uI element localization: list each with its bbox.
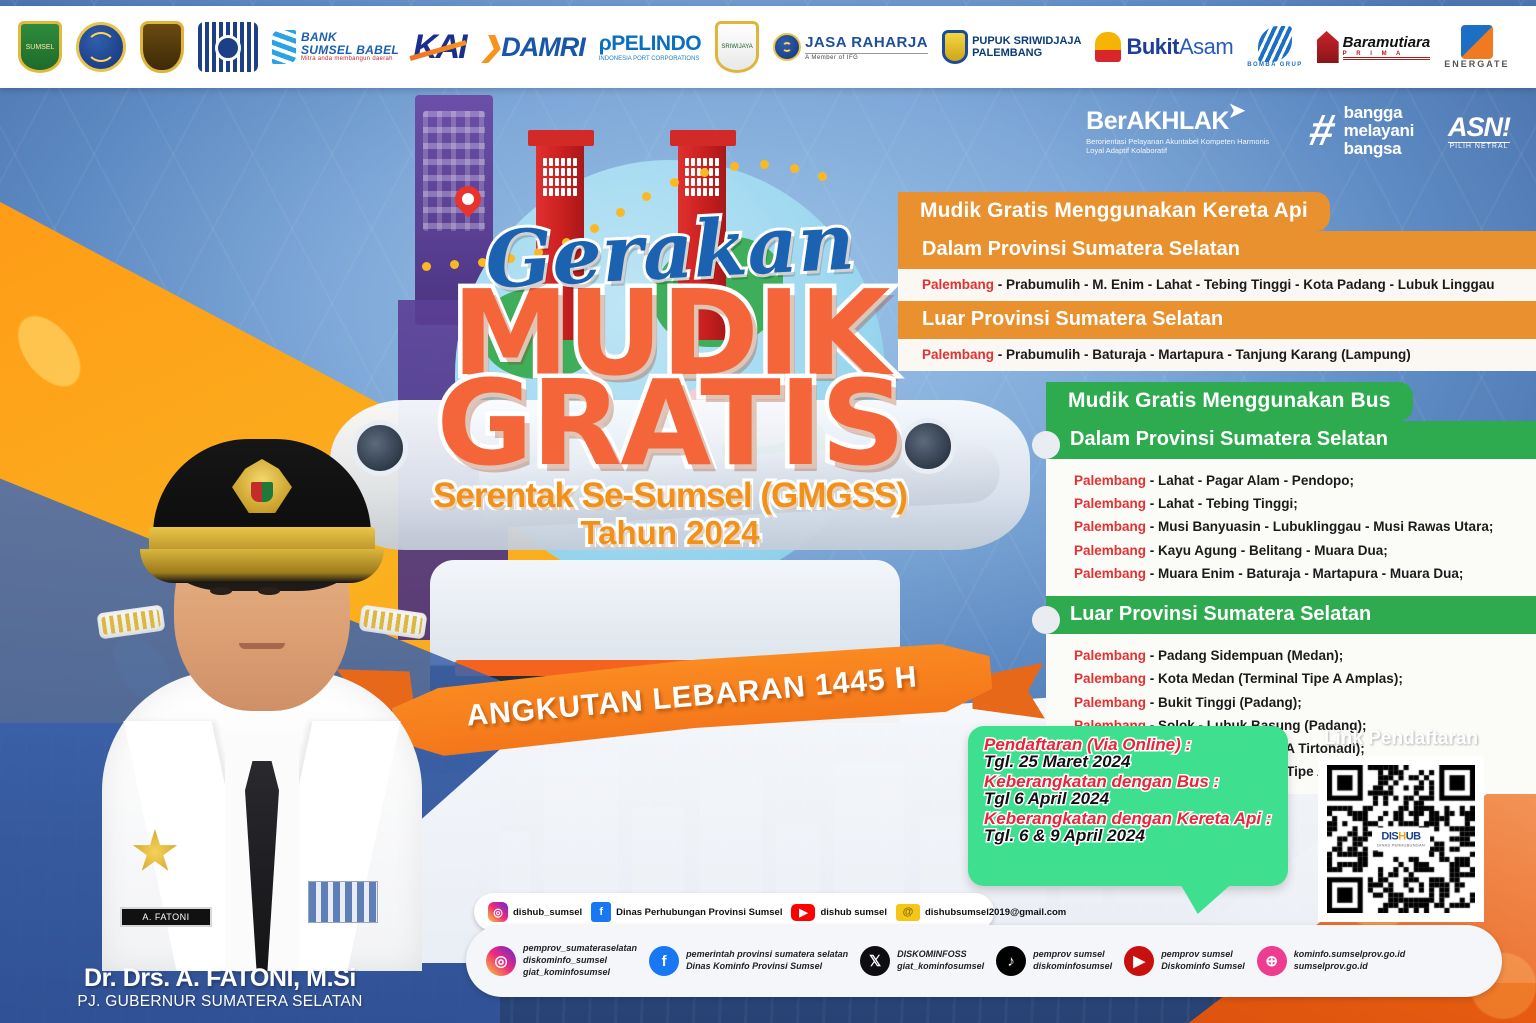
footer-item-website[interactable]: ⊕ kominfo.sumselprov.go.id sumselprov.go…: [1257, 946, 1406, 976]
pelindo-tagline: INDONESIA PORT CORPORATIONS: [599, 56, 701, 62]
bus-route-item: Palembang - Musi Banyuasin - Lubuklingga…: [1074, 515, 1536, 538]
bus-section-dalam-header: Dalam Provinsi Sumatera Selatan: [1046, 421, 1536, 459]
kominfo-social-footer: ◎ pemprov_sumateraselatan diskominfo_sum…: [466, 925, 1502, 997]
asn-netral-logo: ASN! PILIH NETRAL: [1448, 112, 1510, 150]
schedule-line-pendaftaran-date: Tgl. 25 Maret 2024: [984, 753, 1274, 770]
bus-section-luar-header: Luar Provinsi Sumatera Selatan: [1046, 596, 1536, 634]
uniform-nametag: A. FATONI: [120, 907, 212, 927]
jasa-raharja-tagline: A Member of IFG: [805, 53, 928, 61]
footer-youtube-handles: pemprov sumsel Diskominfo Sumsel: [1161, 949, 1245, 973]
footer-tiktok-handles: pemprov sumsel diskominfosumsel: [1033, 949, 1112, 973]
footer-item-facebook[interactable]: f pemerintah provinsi sumatera selatan D…: [649, 946, 848, 976]
bus-route-item: Palembang - Muara Enim - Baturaja - Mart…: [1074, 562, 1536, 585]
x-twitter-icon: 𝕏: [860, 946, 890, 976]
titan-logo: TITAN: [1524, 16, 1536, 78]
dishub-wing-logo-icon: [198, 16, 258, 78]
bangga-melayani-bangsa-logo: # bangga melayani bangsa: [1310, 104, 1414, 158]
damri-logo: ❯DAMRI: [480, 16, 585, 78]
kereta-route-dalam: Palembang - Prabumulih - M. Enim - Lahat…: [898, 269, 1536, 301]
schedule-line-kereta-date: Tgl. 6 & 9 April 2024: [984, 827, 1274, 844]
website-icon: ⊕: [1257, 946, 1287, 976]
partner-logo-bar: SUMSEL BANKSUMSEL BABEL Mitra anda memba…: [0, 6, 1536, 88]
hash-icon: #: [1306, 113, 1338, 148]
governor-eye-right: [258, 587, 280, 595]
footer-facebook-handles: pemerintah provinsi sumatera selatan Din…: [686, 949, 848, 973]
footer-item-youtube[interactable]: ▶ pemprov sumsel Diskominfo Sumsel: [1124, 946, 1245, 976]
pemprov-sumsel-emblem-icon: SUMSEL: [18, 16, 62, 78]
kemenhub-logo-icon: [76, 16, 126, 78]
bus-route-item: Palembang - Kayu Agung - Belitang - Muar…: [1074, 539, 1536, 562]
schedule-line-bus: Keberangkatan dengan Bus :: [984, 773, 1274, 790]
bukit-asam-logo: BukitAsam: [1095, 16, 1233, 78]
schedule-line-pendaftaran: Pendaftaran (Via Online) :: [984, 736, 1274, 753]
bus-routes-dalam: Palembang - Lahat - Pagar Alam - Pendopo…: [1046, 459, 1536, 596]
footer-website-urls: kominfo.sumselprov.go.id sumselprov.go.i…: [1294, 949, 1406, 973]
title-subtitle-gmgss: Serentak Se-Sumsel (GMGSS): [360, 476, 980, 516]
qr-registration-block: Link Pendaftaran DISHUB DINAS PERHUBUNGA…: [1308, 728, 1494, 922]
footer-item-instagram[interactable]: ◎ pemprov_sumateraselatan diskominfo_sum…: [486, 943, 637, 979]
pupuk-sriwidjaja-logo: PUPUK SRIWIDJAJAPALEMBANG: [942, 16, 1081, 78]
bus-knob-left-2: [1032, 606, 1060, 634]
footer-item-tiktok[interactable]: ♪ pemprov sumsel diskominfosumsel: [996, 946, 1112, 976]
baramutiara-tagline: P R I M A: [1343, 51, 1431, 57]
footer-x-handles: DISKOMINFOSS giat_kominfosumsel: [897, 949, 984, 973]
qr-label: Link Pendaftaran: [1308, 728, 1494, 750]
kereta-section-dalam-header: Dalam Provinsi Sumatera Selatan: [898, 231, 1536, 269]
polri-logo-icon: [140, 16, 184, 78]
qr-code[interactable]: DISHUB DINAS PERHUBUNGAN: [1318, 756, 1484, 922]
facebook-icon: f: [649, 946, 679, 976]
cap-brim: [140, 549, 384, 583]
uniform-epaulette-left: [97, 605, 166, 640]
schedule-line-bus-date: Tgl 6 April 2024: [984, 790, 1274, 807]
poster-title-block: Gerakan MUDIK GRATIS Serentak Se-Sumsel …: [360, 215, 980, 552]
social-item-instagram[interactable]: ◎ dishub_sumsel: [488, 902, 582, 922]
footer-item-x-twitter[interactable]: 𝕏 DISKOMINFOSS giat_kominfosumsel: [860, 946, 984, 976]
ampera-tower-right-cap: [670, 130, 736, 146]
qr-center-logo: DISHUB DINAS PERHUBUNGAN: [1372, 828, 1430, 851]
governor-position: PJ. GUBERNUR SUMATERA SELATAN: [0, 993, 440, 1011]
kereta-route-luar: Palembang - Prabumulih - Baturaja - Mart…: [898, 339, 1536, 371]
instagram-icon: ◎: [486, 946, 516, 976]
bomba-grup-logo: BOMBA GRUP: [1247, 16, 1302, 78]
kereta-api-header-pill: Mudik Gratis Menggunakan Kereta Api: [898, 192, 1536, 231]
email-icon: @: [896, 904, 920, 921]
title-gratis: GRATIS: [360, 373, 980, 474]
panel-kereta-api: Mudik Gratis Menggunakan Kereta Api Dala…: [898, 192, 1536, 371]
berakhlak-logo: BerAKHLAK➤ Berorientasi Pelayanan Akunta…: [1086, 107, 1276, 156]
social-item-email[interactable]: @ dishubsumsel2019@gmail.com: [896, 904, 1066, 921]
facebook-icon: f: [591, 902, 611, 922]
bus-route-item: Palembang - Padang Sidempuan (Medan);: [1074, 644, 1536, 667]
bus-route-item: Palembang - Kota Medan (Terminal Tipe A …: [1074, 667, 1536, 690]
ampera-tower-left-cap: [528, 130, 594, 146]
kereta-section-luar-header: Luar Provinsi Sumatera Selatan: [898, 301, 1536, 339]
energate-logo: ENERGATE: [1444, 16, 1509, 78]
sriwijaya-emblem-logo-icon: SRIWIJAYA: [715, 16, 759, 78]
bus-knob-left-1: [1032, 431, 1060, 459]
bus-route-item: Palembang - Lahat - Tebing Tinggi;: [1074, 492, 1536, 515]
bsb-tagline: Mitra anda membangun daerah: [301, 56, 399, 62]
governor-portrait: A. FATONI: [92, 351, 432, 971]
uniform-ribbon-bar: [308, 881, 378, 923]
tiktok-icon: ♪: [996, 946, 1026, 976]
youtube-icon: ▶: [1124, 946, 1154, 976]
governor-name-block: Dr. Drs. A. FATONI, M.Si PJ. GUBERNUR SU…: [0, 964, 440, 1011]
instagram-icon: ◎: [488, 902, 508, 922]
berakhlak-arrow-icon: ➤: [1229, 98, 1245, 123]
youtube-icon: ▶: [791, 904, 815, 921]
poster-root: SUMSEL BANKSUMSEL BABEL Mitra anda memba…: [0, 0, 1536, 1023]
governor-name: Dr. Drs. A. FATONI, M.Si: [0, 964, 440, 993]
schedule-line-kereta: Keberangkatan dengan Kereta Api :: [984, 810, 1274, 827]
ribbon-banner: ANGKUTAN LEBARAN 1445 H: [392, 660, 992, 734]
governor-eye-left: [210, 587, 232, 595]
bank-sumsel-babel-logo: BANKSUMSEL BABEL Mitra anda membangun da…: [272, 16, 399, 78]
berakhlak-subtitle: Berorientasi Pelayanan Akuntabel Kompete…: [1086, 137, 1276, 156]
governor-mouth: [239, 643, 285, 649]
bangga-line3: bangsa: [1344, 140, 1414, 158]
pelindo-logo: ρPELINDO INDONESIA PORT CORPORATIONS: [599, 16, 701, 78]
baramutiara-prima-logo: Baramutiara P R I M A: [1317, 16, 1431, 78]
jasa-raharja-logo: JASA RAHARJA A Member of IFG: [773, 16, 928, 78]
title-year: Tahun 2024: [360, 514, 980, 552]
kai-logo: KAI: [413, 16, 466, 78]
brandmarks-row: BerAKHLAK➤ Berorientasi Pelayanan Akunta…: [1086, 104, 1510, 158]
bus-header-pill: Mudik Gratis Menggunakan Bus: [1046, 382, 1536, 421]
schedule-speech-bubble: Pendaftaran (Via Online) : Tgl. 25 Maret…: [968, 726, 1288, 886]
bangga-line1: bangga: [1344, 104, 1414, 122]
bus-route-item: Palembang - Lahat - Pagar Alam - Pendopo…: [1074, 469, 1536, 492]
footer-instagram-handles: pemprov_sumateraselatan diskominfo_sumse…: [523, 943, 637, 979]
social-item-facebook[interactable]: f Dinas Perhubungan Provinsi Sumsel: [591, 902, 782, 922]
uniform-epaulette-right: [359, 605, 428, 640]
bus-route-item: Palembang - Bukit Tinggi (Padang);: [1074, 691, 1536, 714]
social-item-youtube[interactable]: ▶ dishub sumsel: [791, 904, 887, 921]
bangga-line2: melayani: [1344, 122, 1414, 140]
